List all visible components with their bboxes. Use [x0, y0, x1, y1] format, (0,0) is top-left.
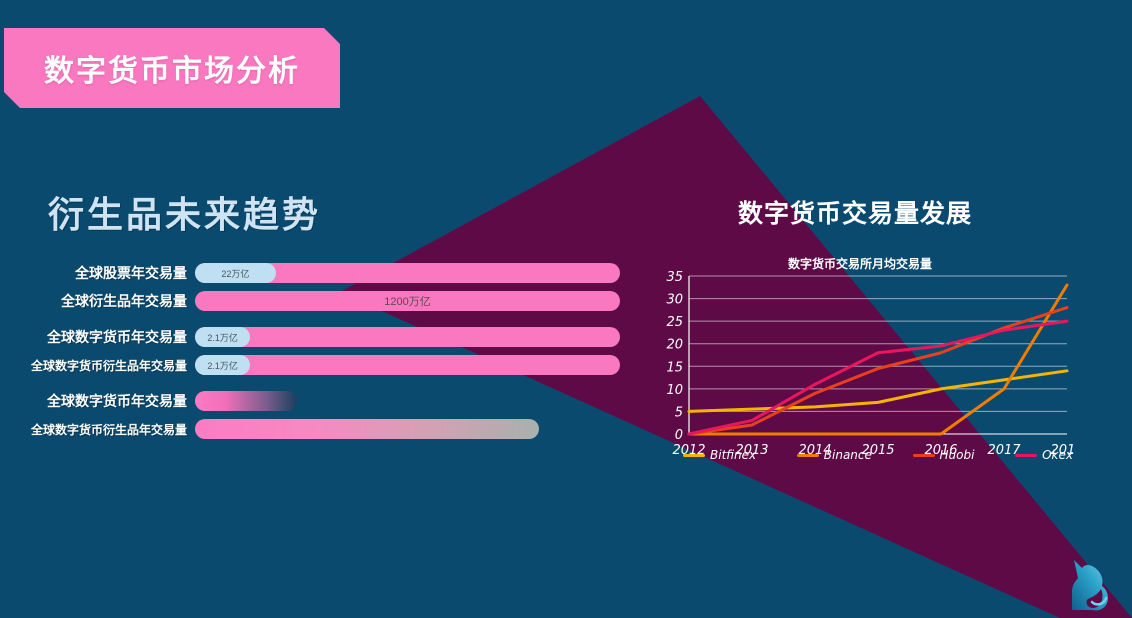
- legend-swatch-icon: [913, 454, 935, 457]
- bar-track: 22万亿: [195, 263, 620, 283]
- chart-series-huobi: [689, 308, 1067, 434]
- y-axis-tick-label: 35: [666, 270, 683, 285]
- bar-group: 全球数字货币年交易量全球数字货币衍生品年交易量: [0, 390, 660, 440]
- legend-item[interactable]: Huobi: [913, 448, 975, 462]
- legend-item[interactable]: Bitfinex: [683, 448, 756, 462]
- legend-swatch-icon: [683, 454, 705, 457]
- bar-fill: [195, 355, 620, 375]
- bar-label: 全球数字货币衍生品年交易量: [0, 421, 195, 438]
- bar-fill: [195, 419, 539, 439]
- bar-row: 全球衍生品年交易量1200万亿: [0, 290, 660, 312]
- legend-item[interactable]: Okex: [1015, 448, 1073, 462]
- y-axis-tick-label: 10: [666, 383, 683, 398]
- bar-label: 全球股票年交易量: [0, 263, 195, 283]
- line-chart: 0510152025303520122013201420152016201720…: [655, 268, 1075, 478]
- right-section-heading: 数字货币交易量发展: [738, 194, 972, 230]
- bar-value-label: 1200万亿: [195, 291, 620, 311]
- bar-track: 2.1万亿: [195, 327, 620, 347]
- bar-value-chip: 2.1万亿: [195, 327, 250, 347]
- bar-track: [195, 391, 620, 411]
- bar-value-chip: 2.1万亿: [195, 355, 250, 375]
- bar-fill: [195, 391, 297, 411]
- y-axis-tick-label: 15: [666, 360, 683, 375]
- bar-row: 全球数字货币衍生品年交易量: [0, 418, 660, 440]
- bar-label: 全球数字货币年交易量: [0, 391, 195, 411]
- chart-legend: BitfinexBinanceHuobiOkex: [683, 448, 1073, 462]
- slide-title-banner: 数字货币市场分析: [4, 28, 340, 108]
- slide-canvas: 数字货币市场分析 衍生品未来趋势 全球股票年交易量22万亿全球衍生品年交易量12…: [0, 0, 1132, 618]
- legend-label: Binance: [824, 448, 872, 462]
- bar-value-chip: 22万亿: [195, 263, 276, 283]
- legend-swatch-icon: [797, 454, 819, 457]
- bar-fill: [195, 327, 620, 347]
- left-section-heading: 衍生品未来趋势: [48, 186, 321, 238]
- y-axis-tick-label: 20: [666, 338, 683, 353]
- bar-row: 全球股票年交易量22万亿: [0, 262, 660, 284]
- legend-label: Okex: [1042, 448, 1073, 462]
- slide-title-text: 数字货币市场分析: [44, 46, 300, 90]
- y-axis-tick-label: 30: [666, 293, 683, 308]
- bar-label: 全球数字货币年交易量: [0, 327, 195, 347]
- bar-label: 全球数字货币衍生品年交易量: [0, 357, 195, 374]
- bar-track: 1200万亿: [195, 291, 620, 311]
- legend-swatch-icon: [1015, 454, 1037, 457]
- legend-label: Huobi: [940, 448, 975, 462]
- bar-group: 全球数字货币年交易量2.1万亿全球数字货币衍生品年交易量2.1万亿: [0, 326, 660, 376]
- bar-track: [195, 419, 620, 439]
- comparison-bars: 全球股票年交易量22万亿全球衍生品年交易量1200万亿全球数字货币年交易量2.1…: [0, 262, 660, 454]
- bar-row: 全球数字货币衍生品年交易量2.1万亿: [0, 354, 660, 376]
- bar-row: 全球数字货币年交易量2.1万亿: [0, 326, 660, 348]
- y-axis-tick-label: 25: [666, 315, 683, 330]
- legend-label: Bitfinex: [710, 448, 756, 462]
- bar-track: 2.1万亿: [195, 355, 620, 375]
- bar-row: 全球数字货币年交易量: [0, 390, 660, 412]
- legend-item[interactable]: Binance: [797, 448, 872, 462]
- bar-label: 全球衍生品年交易量: [0, 291, 195, 311]
- cat-logo: [1056, 550, 1122, 612]
- bar-group: 全球股票年交易量22万亿全球衍生品年交易量1200万亿: [0, 262, 660, 312]
- y-axis-tick-label: 0: [675, 428, 683, 443]
- y-axis-tick-label: 5: [675, 405, 683, 420]
